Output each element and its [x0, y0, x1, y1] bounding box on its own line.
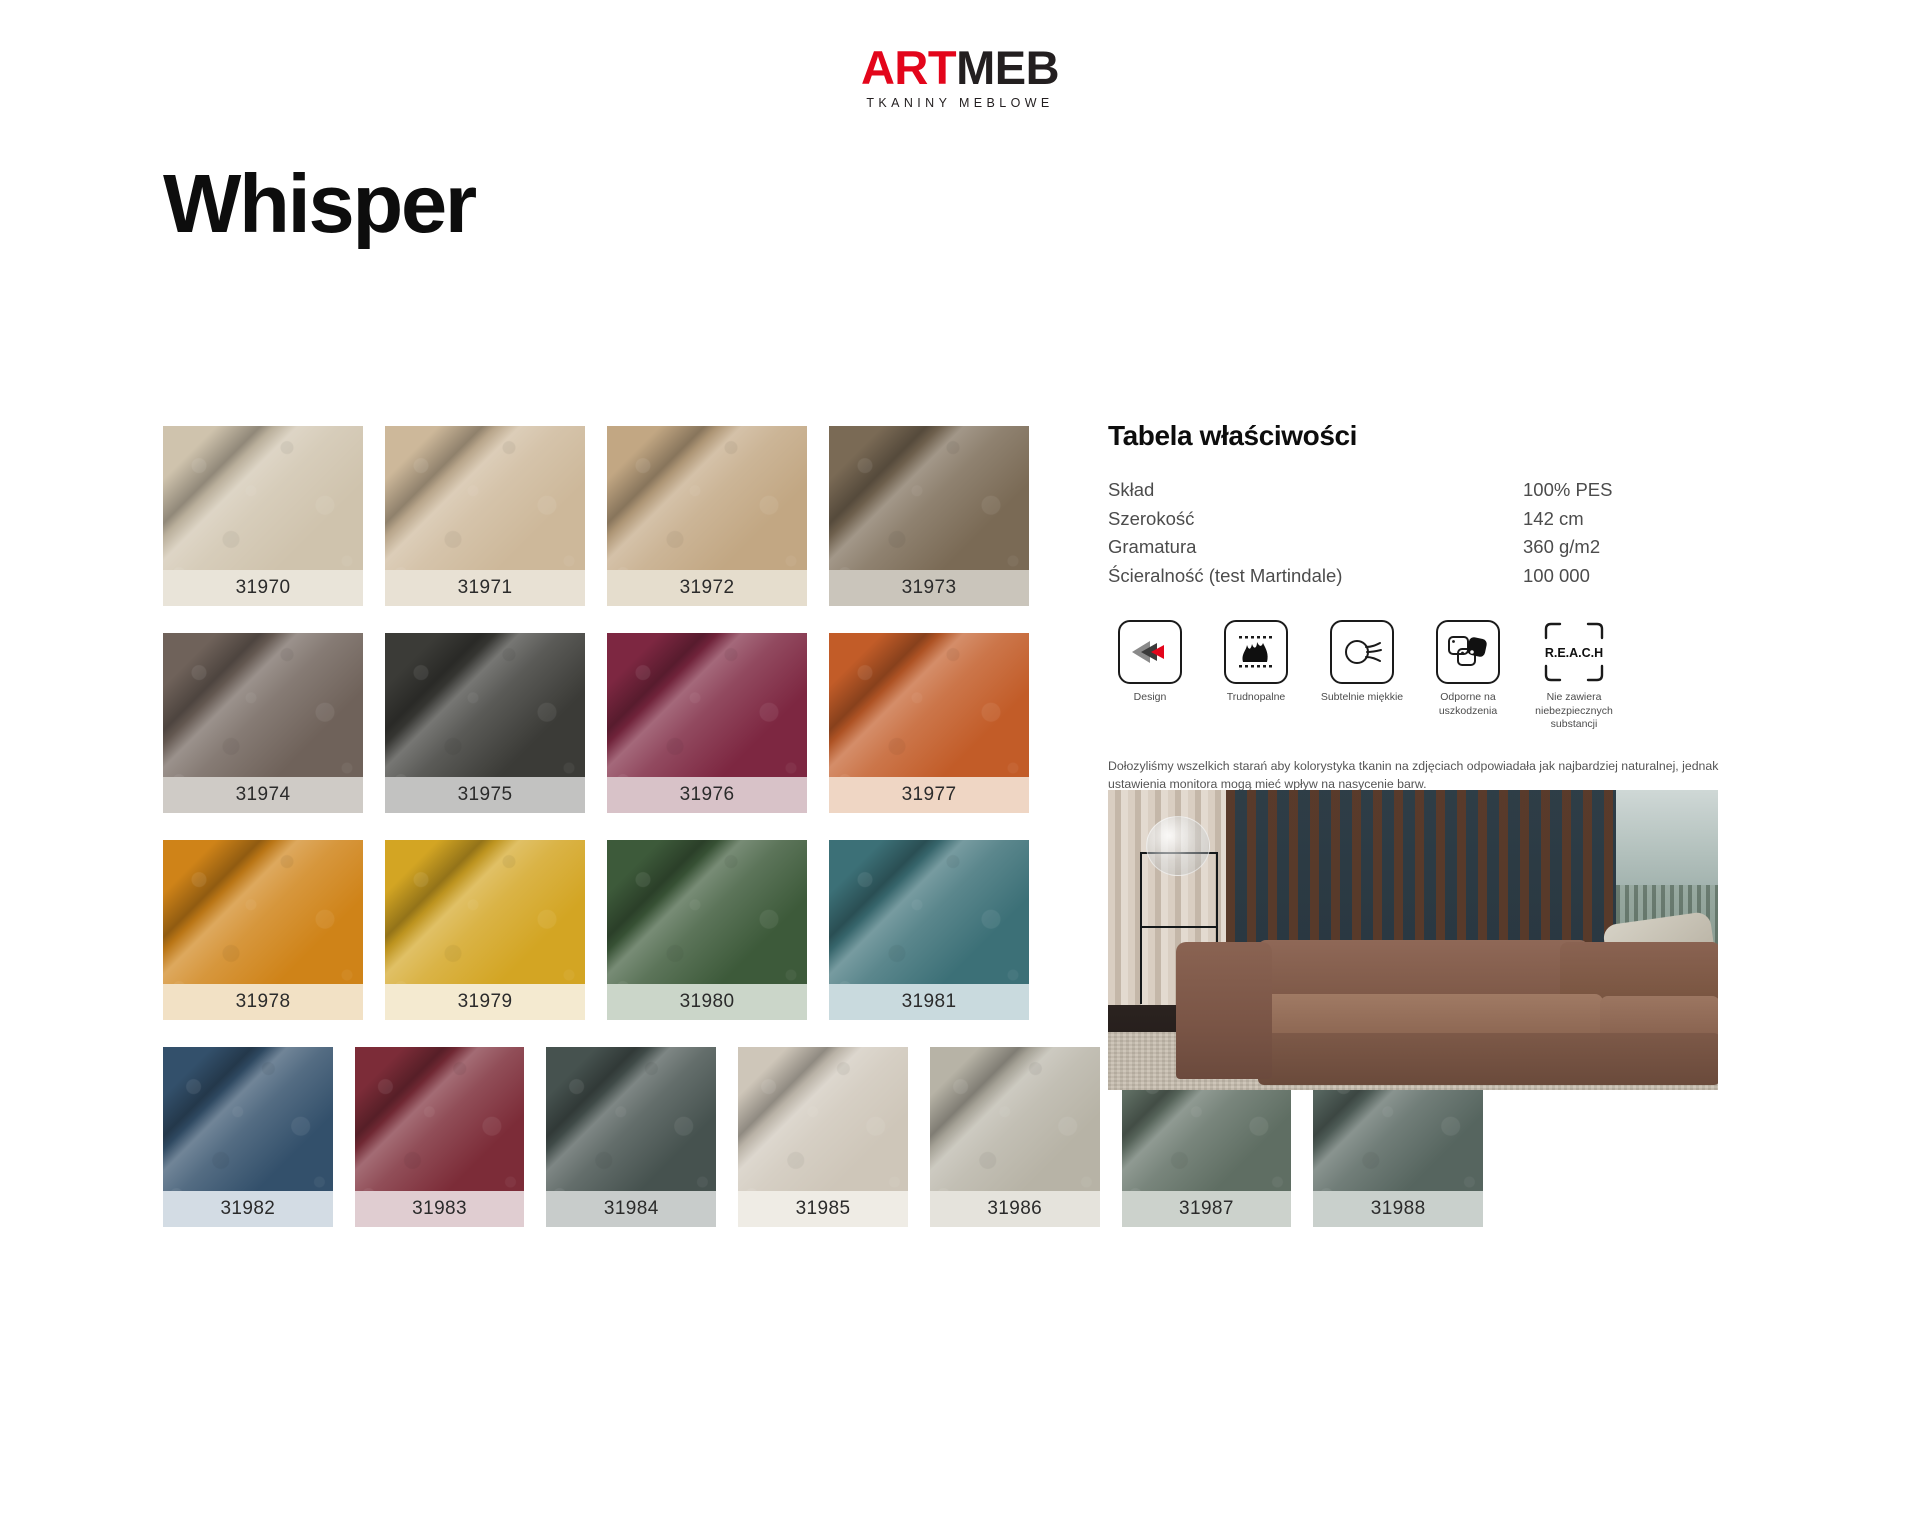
property-name: Gramatura — [1108, 535, 1523, 564]
fabric-swatch[interactable]: 31975 — [385, 633, 585, 813]
fabric-swatch[interactable]: 31974 — [163, 633, 363, 813]
fabric-swatch[interactable]: 31977 — [829, 633, 1029, 813]
fabric-swatch[interactable]: 31980 — [607, 840, 807, 1020]
flame-glyph — [1235, 632, 1277, 672]
feature-icon-strip: Design Trudnopalne — [1108, 620, 1728, 731]
fabric-swatch[interactable]: 31973 — [829, 426, 1029, 606]
swatch-code-label: 31981 — [829, 984, 1029, 1020]
fabric-swatch[interactable]: 31970 — [163, 426, 363, 606]
fabric-swatch[interactable]: 31979 — [385, 840, 585, 1020]
swatch-code-label: 31975 — [385, 777, 585, 813]
swatch-code-label: 31976 — [607, 777, 807, 813]
fabric-swatch[interactable]: 31986 — [930, 1047, 1100, 1227]
property-name: Skład — [1108, 478, 1523, 507]
feature-soft-touch: Subtelnie miękkie — [1320, 620, 1404, 731]
properties-title: Tabela właściwości — [1108, 420, 1728, 452]
soft-touch-icon — [1330, 620, 1394, 684]
swatch-code-label: 31988 — [1313, 1191, 1483, 1227]
logo-wordmark: ARTMEB — [861, 44, 1059, 91]
design-arrow-icon — [1118, 620, 1182, 684]
reach-icon: R.E.A.C.H — [1542, 620, 1606, 684]
property-name: Szerokość — [1108, 507, 1523, 536]
page-title: Whisper — [163, 162, 475, 245]
design-arrow-glyph — [1130, 638, 1170, 666]
feature-flame-caption: Trudnopalne — [1214, 691, 1298, 704]
reach-glyph: R.E.A.C.H — [1542, 620, 1606, 684]
photo-sofa-base — [1258, 1033, 1718, 1085]
feature-soft-touch-caption: Subtelnie miękkie — [1320, 691, 1404, 704]
damage-resistant-icon — [1436, 620, 1500, 684]
property-row: Skład100% PES — [1108, 478, 1728, 507]
swatch-code-label: 31986 — [930, 1191, 1100, 1227]
swatch-code-label: 31978 — [163, 984, 363, 1020]
fabric-swatch[interactable]: 31978 — [163, 840, 363, 1020]
feature-reach-caption: Nie zawiera niebezpiecznych substancji — [1532, 691, 1616, 731]
swatch-code-label: 31972 — [607, 570, 807, 606]
property-row: Gramatura360 g/m2 — [1108, 535, 1728, 564]
swatch-code-label: 31984 — [546, 1191, 716, 1227]
fabric-swatch[interactable]: 31976 — [607, 633, 807, 813]
logo-meb-text: MEB — [956, 41, 1059, 94]
fabric-swatch[interactable]: 31985 — [738, 1047, 908, 1227]
property-row: Szerokość142 cm — [1108, 507, 1728, 536]
property-name: Ścieralność (test Martindale) — [1108, 564, 1523, 593]
feature-flame: Trudnopalne — [1214, 620, 1298, 731]
swatch-code-label: 31987 — [1122, 1191, 1292, 1227]
disclaimer-paragraph-1: Dołozyliśmy wszelkich starań aby kolorys… — [1108, 758, 1720, 794]
fabric-swatch[interactable]: 31982 — [163, 1047, 333, 1227]
property-value: 100 000 — [1523, 564, 1728, 593]
property-row: Ścieralność (test Martindale)100 000 — [1108, 564, 1728, 593]
feature-design: Design — [1108, 620, 1192, 731]
flame-icon — [1224, 620, 1288, 684]
room-photo — [1108, 790, 1718, 1090]
swatch-code-label: 31980 — [607, 984, 807, 1020]
swatch-code-label: 31982 — [163, 1191, 333, 1227]
swatch-code-label: 31983 — [355, 1191, 525, 1227]
property-value: 360 g/m2 — [1523, 535, 1728, 564]
properties-table: Skład100% PESSzerokość142 cmGramatura360… — [1108, 478, 1728, 592]
photo-lamp-globe — [1146, 816, 1210, 876]
logo-tagline: TKANINY MEBLOWE — [0, 96, 1920, 110]
swatch-code-label: 31977 — [829, 777, 1029, 813]
brand-logo: ARTMEB TKANINY MEBLOWE — [0, 44, 1920, 110]
fabric-swatch[interactable]: 31971 — [385, 426, 585, 606]
damage-resistant-glyph — [1446, 632, 1490, 672]
feature-damage-resistant-caption: Odporne na uszkodzenia — [1426, 691, 1510, 718]
properties-panel: Tabela właściwości Skład100% PESSzerokoś… — [1108, 420, 1728, 827]
swatch-code-label: 31985 — [738, 1191, 908, 1227]
swatch-code-label: 31979 — [385, 984, 585, 1020]
swatch-code-label: 31970 — [163, 570, 363, 606]
feature-reach: R.E.A.C.H Nie zawiera niebezpiecznych su… — [1532, 620, 1616, 731]
feature-damage-resistant: Odporne na uszkodzenia — [1426, 620, 1510, 731]
swatch-code-label: 31974 — [163, 777, 363, 813]
property-value: 142 cm — [1523, 507, 1728, 536]
property-value: 100% PES — [1523, 478, 1728, 507]
photo-sofa-arm — [1176, 942, 1272, 1079]
reach-badge-text: R.E.A.C.H — [1545, 646, 1603, 660]
logo-art-text: ART — [861, 41, 956, 94]
swatch-code-label: 31971 — [385, 570, 585, 606]
fabric-swatch[interactable]: 31984 — [546, 1047, 716, 1227]
fabric-swatch[interactable]: 31981 — [829, 840, 1029, 1020]
fabric-swatch[interactable]: 31983 — [355, 1047, 525, 1227]
feature-design-caption: Design — [1108, 691, 1192, 704]
soft-touch-glyph — [1340, 636, 1384, 668]
fabric-swatch[interactable]: 31972 — [607, 426, 807, 606]
swatch-code-label: 31973 — [829, 570, 1029, 606]
